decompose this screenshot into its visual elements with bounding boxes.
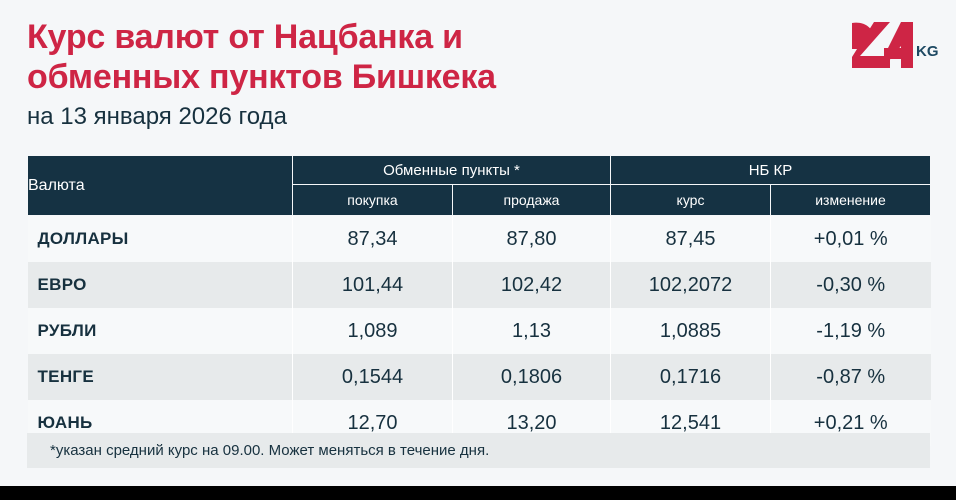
column-header-rate: курс [611, 185, 771, 216]
table-header: Валюта Обменные пункты * НБ КР покупка п… [28, 156, 931, 216]
cell-buy: 1,089 [293, 308, 453, 354]
cell-buy: 0,1544 [293, 354, 453, 400]
svg-text:KG: KG [916, 43, 939, 60]
infographic-page: Курс валют от Нацбанка и обменных пункто… [0, 0, 956, 500]
column-header-change: изменение [771, 185, 931, 216]
footnote-text: *указан средний курс на 09.00. Может мен… [27, 442, 489, 459]
cell-change: -0,30 % [771, 262, 931, 308]
cell-currency: ЕВРО [28, 262, 293, 308]
page-header: Курс валют от Нацбанка и обменных пункто… [0, 0, 956, 150]
column-group-header-nbkr: НБ КР [611, 156, 931, 185]
currency-rate-table: Валюта Обменные пункты * НБ КР покупка п… [27, 155, 931, 446]
column-header-sell: продажа [453, 185, 611, 216]
cell-sell: 87,80 [453, 216, 611, 263]
cell-sell: 0,1806 [453, 354, 611, 400]
cell-change: +0,01 % [771, 216, 931, 263]
table-row: ТЕНГЕ0,15440,18060,1716-0,87 % [28, 354, 931, 400]
cell-sell: 1,13 [453, 308, 611, 354]
cell-currency: РУБЛИ [28, 308, 293, 354]
cell-change: -1,19 % [771, 308, 931, 354]
footnote-band: *указан средний курс на 09.00. Может мен… [27, 433, 930, 468]
page-subtitle-date: на 13 января 2026 года [27, 103, 287, 131]
column-header-currency: Валюта [28, 156, 293, 216]
column-group-header-exchange-offices: Обменные пункты * [293, 156, 611, 185]
cell-change: -0,87 % [771, 354, 931, 400]
table-row: ЕВРО101,44102,42102,2072-0,30 % [28, 262, 931, 308]
bottom-bar [0, 486, 956, 500]
logo-kg-mark: KG [916, 43, 939, 60]
cell-buy: 101,44 [293, 262, 453, 308]
page-title-line-1: Курс валют от Нацбанка и [27, 17, 727, 57]
cell-rate: 102,2072 [611, 262, 771, 308]
logo-24-mark [852, 22, 913, 68]
logo-24kg[interactable]: KG [844, 18, 940, 72]
cell-rate: 87,45 [611, 216, 771, 263]
table-body: ДОЛЛАРЫ87,3487,8087,45+0,01 %ЕВРО101,441… [28, 216, 931, 447]
page-title-line-2: обменных пунктов Бишкека [27, 57, 727, 97]
cell-sell: 102,42 [453, 262, 611, 308]
column-header-buy: покупка [293, 185, 453, 216]
page-title: Курс валют от Нацбанка и обменных пункто… [27, 17, 727, 97]
cell-rate: 1,0885 [611, 308, 771, 354]
table-row: РУБЛИ1,0891,131,0885-1,19 % [28, 308, 931, 354]
cell-buy: 87,34 [293, 216, 453, 263]
cell-currency: ДОЛЛАРЫ [28, 216, 293, 263]
cell-currency: ТЕНГЕ [28, 354, 293, 400]
cell-rate: 0,1716 [611, 354, 771, 400]
table-row: ДОЛЛАРЫ87,3487,8087,45+0,01 % [28, 216, 931, 263]
table-header-row-groups: Валюта Обменные пункты * НБ КР [28, 156, 931, 185]
